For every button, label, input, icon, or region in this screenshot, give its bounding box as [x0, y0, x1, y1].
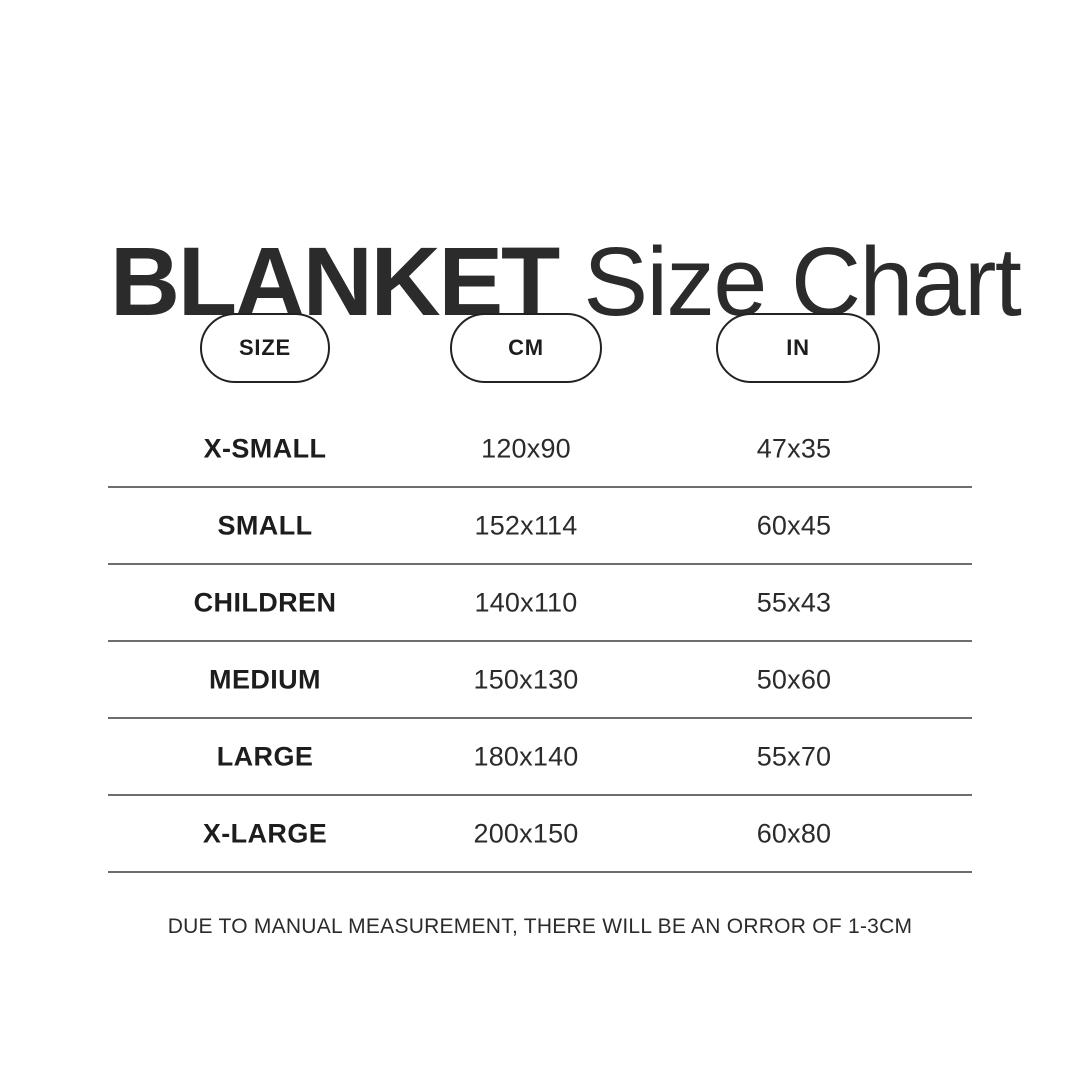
column-headers: SIZE CM IN — [108, 313, 972, 385]
cell-cm: 152x114 — [428, 510, 624, 541]
cell-cm: 200x150 — [428, 818, 624, 849]
cell-size: LARGE — [168, 741, 362, 772]
table-row: MEDIUM 150x130 50x60 — [108, 642, 972, 719]
table-row: SMALL 152x114 60x45 — [108, 488, 972, 565]
cell-cm: 120x90 — [428, 433, 624, 464]
cell-size: CHILDREN — [168, 587, 362, 618]
cell-in: 55x43 — [696, 587, 892, 618]
cell-in: 47x35 — [696, 433, 892, 464]
column-header-size: SIZE — [200, 313, 330, 383]
cell-cm: 150x130 — [428, 664, 624, 695]
size-chart-page: BLANKET Size Chart SIZE CM IN X-SMALL 12… — [0, 0, 1080, 1080]
cell-cm: 140x110 — [428, 587, 624, 618]
table-row: X-SMALL 120x90 47x35 — [108, 411, 972, 488]
table-row: CHILDREN 140x110 55x43 — [108, 565, 972, 642]
measurement-disclaimer: DUE TO MANUAL MEASUREMENT, THERE WILL BE… — [0, 915, 1080, 939]
table-row: X-LARGE 200x150 60x80 — [108, 796, 972, 873]
table-row: LARGE 180x140 55x70 — [108, 719, 972, 796]
cell-size: X-SMALL — [168, 433, 362, 464]
cell-cm: 180x140 — [428, 741, 624, 772]
column-header-in: IN — [716, 313, 880, 383]
cell-size: X-LARGE — [168, 818, 362, 849]
cell-in: 60x80 — [696, 818, 892, 849]
size-table: X-SMALL 120x90 47x35 SMALL 152x114 60x45… — [108, 411, 972, 873]
cell-in: 55x70 — [696, 741, 892, 772]
column-header-cm: CM — [450, 313, 602, 383]
cell-in: 50x60 — [696, 664, 892, 695]
cell-in: 60x45 — [696, 510, 892, 541]
cell-size: SMALL — [168, 510, 362, 541]
cell-size: MEDIUM — [168, 664, 362, 695]
